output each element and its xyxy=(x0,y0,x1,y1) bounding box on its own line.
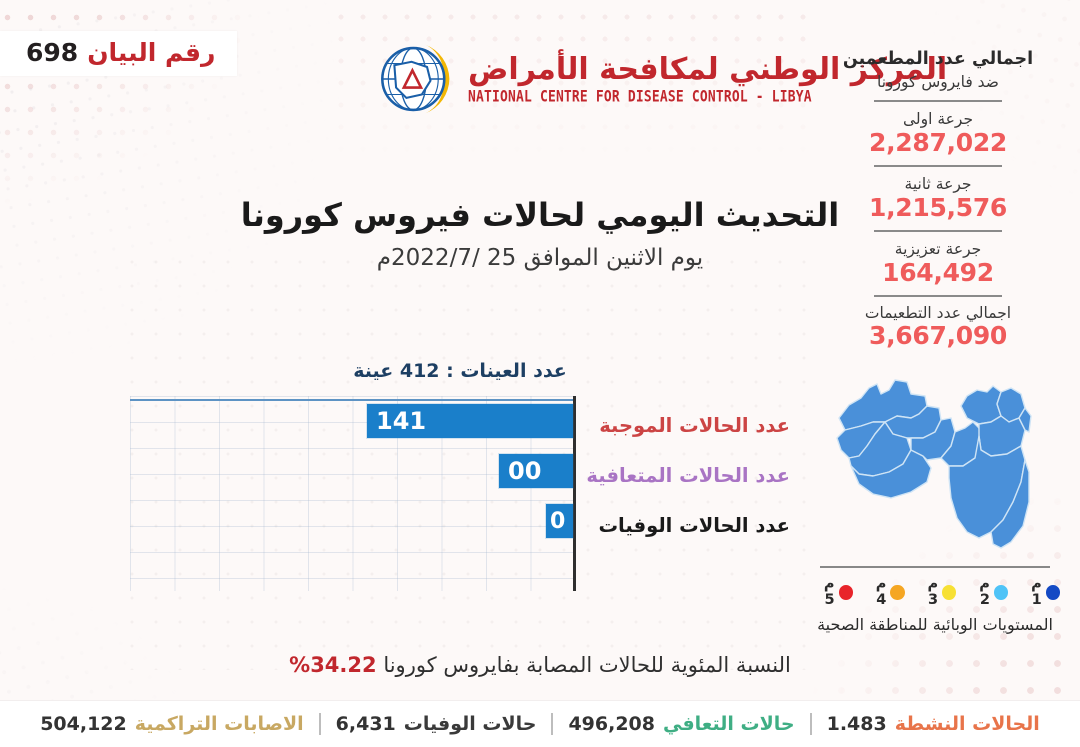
level-5-label: م 5 xyxy=(810,576,835,608)
logo-english-name: NATIONAL CENTRE FOR DISEASE CONTROL - LI… xyxy=(468,88,812,106)
vaccination-heading-line1: اجمالي عدد المطعمين xyxy=(824,48,1052,71)
active-cases-value: 1.483 xyxy=(827,713,887,735)
active-cases-label: الحالات النشطة xyxy=(895,713,1040,735)
chart-bar-recovered-value: 00 xyxy=(499,454,573,488)
level-2-label: م 2 xyxy=(965,576,990,608)
infographic-page: رقم البيان 698 المركز الوطني لمكافحة الأ… xyxy=(0,0,1080,747)
level-3-dot-icon xyxy=(942,585,956,600)
epidemic-level-legend: م 1 م 2 م 3 م 4 م 5 xyxy=(810,576,1060,608)
legend-level-2: م 2 xyxy=(965,576,1008,608)
vaccination-row-dose1: جرعة اولى 2,287,022 xyxy=(824,102,1052,158)
level-4-dot-icon xyxy=(890,585,904,600)
total-doses-label: اجمالي عدد التطعيمات xyxy=(824,304,1052,322)
bulletin-number-value: 698 xyxy=(26,38,78,67)
footer-item-deaths: حالات الوفيات 6,431 xyxy=(321,713,552,735)
vaccination-heading-line2: ضد فايروس كورونا xyxy=(824,72,1052,93)
level-1-dot-icon xyxy=(1046,585,1060,600)
legend-level-1: م 1 xyxy=(1017,576,1060,608)
legend-divider xyxy=(820,566,1050,568)
legend-level-5: م 5 xyxy=(810,576,853,608)
cumulative-value: 504,122 xyxy=(40,713,127,735)
dose1-value: 2,287,022 xyxy=(824,128,1052,158)
report-date: يوم الاثنين الموافق 25 /2022/7م xyxy=(0,245,1080,271)
chart-top-axis-rule xyxy=(130,399,573,401)
footer-divider xyxy=(551,713,553,735)
footer-item-active-cases: الحالات النشطة 1.483 xyxy=(812,713,1055,735)
chart-bar-positive-value: 141 xyxy=(367,404,573,438)
level-5-dot-icon xyxy=(839,585,853,600)
legend-caption: المستويات الوبائية للمناطقة الصحية xyxy=(810,615,1060,634)
dose1-label: جرعة اولى xyxy=(824,109,1052,129)
footer-divider xyxy=(319,713,321,735)
cases-bar-chart: عدد العينات : 412 عينة عدد الحالات الموج… xyxy=(130,360,790,591)
deaths-label: حالات الوفيات xyxy=(404,713,537,735)
vaccination-row-total: اجمالي عدد التطعيمات 3,667,090 xyxy=(824,297,1052,351)
positivity-rate-value: 34.22% xyxy=(289,653,376,677)
deaths-value: 6,431 xyxy=(336,713,396,735)
recovered-label: حالات التعافي xyxy=(663,713,795,735)
recovered-value: 496,208 xyxy=(568,713,655,735)
chart-row-positive: 141 xyxy=(130,396,573,446)
cumulative-label: الاصابات التراكمية xyxy=(135,713,304,735)
footer-item-cumulative: الاصابات التراكمية 504,122 xyxy=(25,713,318,735)
level-1-label: م 1 xyxy=(1017,576,1042,608)
chart-label-death-cases: عدد الحالات الوفيات xyxy=(576,500,790,550)
chart-label-positive-cases: عدد الحالات الموجبة xyxy=(576,400,790,450)
level-4-label: م 4 xyxy=(862,576,887,608)
libya-epidemic-map: م 1 م 2 م 3 م 4 م 5 المستويات الوبائية ل… xyxy=(810,372,1060,634)
globe-crescent-logo-icon xyxy=(372,36,458,122)
bulletin-number-badge: رقم البيان 698 xyxy=(0,31,237,76)
legend-level-4: م 4 xyxy=(862,576,905,608)
level-3-label: م 3 xyxy=(914,576,939,608)
libya-map-icon xyxy=(815,372,1055,562)
chart-bar-deaths-value: 0 xyxy=(546,504,573,538)
dose2-label: جرعة ثانية xyxy=(824,174,1052,194)
title-block: التحديث اليومي لحالات فيروس كورونا يوم ا… xyxy=(0,196,1080,271)
footer-totals-bar: الحالات النشطة 1.483 حالات التعافي 496,2… xyxy=(0,700,1080,747)
level-2-dot-icon xyxy=(994,585,1008,600)
chart-category-labels: عدد الحالات الموجبة عدد الحالات المتعافي… xyxy=(576,396,790,591)
chart-label-recovered-cases: عدد الحالات المتعافية xyxy=(576,450,790,500)
chart-bars-container: 141 00 0 xyxy=(130,396,576,591)
footer-divider xyxy=(810,713,812,735)
chart-row-recovered: 00 xyxy=(130,446,573,496)
chart-plot-area: عدد الحالات الموجبة عدد الحالات المتعافي… xyxy=(130,396,790,591)
positivity-rate-line: النسبة المئوية للحالات المصابة بفايروس ك… xyxy=(0,653,1080,677)
chart-row-deaths: 0 xyxy=(130,496,573,546)
bulletin-number-label: رقم البيان xyxy=(87,38,215,67)
legend-level-3: م 3 xyxy=(914,576,957,608)
footer-item-recovered: حالات التعافي 496,208 xyxy=(553,713,809,735)
samples-count-heading: عدد العينات : 412 عينة xyxy=(130,360,790,382)
positivity-rate-label: النسبة المئوية للحالات المصابة بفايروس ك… xyxy=(383,653,791,677)
total-doses-value: 3,667,090 xyxy=(824,321,1052,351)
page-title: التحديث اليومي لحالات فيروس كورونا xyxy=(0,196,1080,234)
